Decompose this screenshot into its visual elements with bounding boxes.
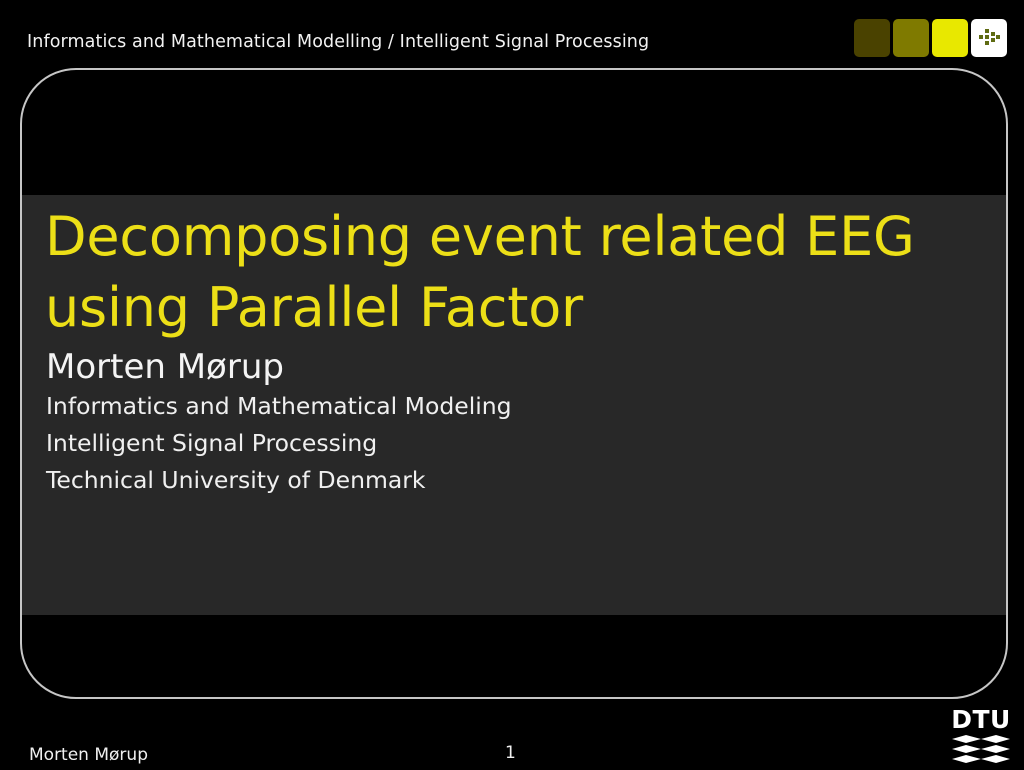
logo-square-yellow bbox=[932, 19, 968, 57]
dtu-logo: DTU bbox=[950, 707, 1012, 765]
slide-body-panel: Decomposing event related EEG using Para… bbox=[22, 195, 1008, 615]
logo-square-olive bbox=[893, 19, 929, 57]
slide-content-frame: Decomposing event related EEG using Para… bbox=[20, 68, 1008, 699]
slide-title: Decomposing event related EEG using Para… bbox=[45, 201, 965, 343]
slide-header: Informatics and Mathematical Modelling /… bbox=[0, 0, 1024, 68]
author-block: Morten Mørup Informatics and Mathematica… bbox=[46, 347, 946, 499]
logo-square-dark-olive bbox=[854, 19, 890, 57]
footer-author: Morten Mørup bbox=[29, 745, 148, 765]
dots-arrow-icon bbox=[977, 26, 1001, 50]
affiliation-line-3: Technical University of Denmark bbox=[46, 462, 946, 499]
dtu-waves-icon bbox=[950, 735, 1012, 766]
dtu-wordmark: DTU bbox=[950, 707, 1012, 732]
affiliation-line-2: Intelligent Signal Processing bbox=[46, 425, 946, 462]
affiliation-line-1: Informatics and Mathematical Modeling bbox=[46, 388, 946, 425]
footer-page-number: 1 bbox=[505, 743, 516, 763]
author-name: Morten Mørup bbox=[46, 347, 946, 388]
presentation-slide: Informatics and Mathematical Modelling /… bbox=[0, 0, 1024, 768]
institution-logo bbox=[854, 19, 1010, 57]
header-title: Informatics and Mathematical Modelling /… bbox=[27, 31, 649, 53]
logo-square-icon bbox=[971, 19, 1007, 57]
